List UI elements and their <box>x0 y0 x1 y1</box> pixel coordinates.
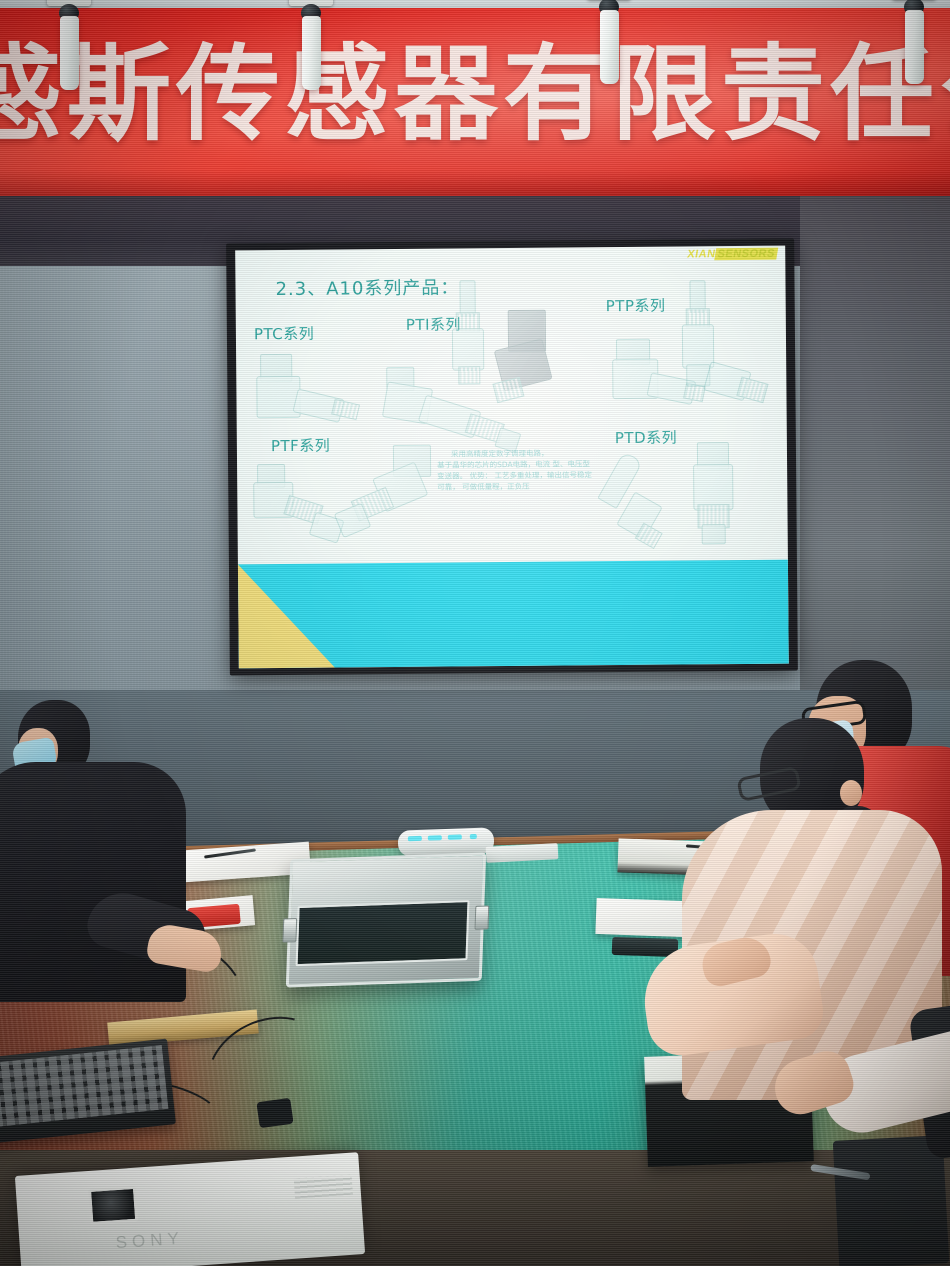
red-banner: 惑斯传感器有限责任公 <box>0 8 950 204</box>
aluminum-flight-case[interactable] <box>286 852 486 987</box>
banner-text: 惑斯传感器有限责任公 <box>0 34 950 154</box>
sensor-sketch-pti-c <box>488 310 565 419</box>
body-line-4: 优势： <box>470 471 493 480</box>
slide-surface: XIANSENSORS 2.3、A10系列产品： PTC系列 PTI系列 PTP… <box>235 246 789 669</box>
sensor-sketch-ptc <box>254 353 359 438</box>
slide-accent-band <box>238 560 789 669</box>
logo-text-sensors: SENSORS <box>715 248 778 261</box>
projector-lens-icon <box>88 1186 138 1225</box>
series-label-ptc: PTC系列 <box>254 323 314 345</box>
chair[interactable] <box>833 1135 950 1266</box>
sensor-sketch-ptp-c <box>706 358 773 421</box>
cable-clip <box>256 1098 293 1128</box>
sensor-sketch-ptd-b <box>685 442 744 547</box>
right-wall <box>800 196 950 696</box>
xian-sensors-logo: XIANSENSORS <box>687 248 779 261</box>
series-label-ptp: PTP系列 <box>606 295 666 317</box>
projection-screen[interactable]: XIANSENSORS 2.3、A10系列产品： PTC系列 PTI系列 PTP… <box>226 239 798 676</box>
projector-brand-label: SONY <box>115 1229 184 1254</box>
ear <box>840 780 862 806</box>
projector-vent <box>294 1175 353 1199</box>
conference-room-scene: 惑斯传感器有限责任公 XIANSENSORS 2.3、A10系列产品： PTC系… <box>0 0 950 1266</box>
torso <box>0 762 186 1002</box>
body-line-2: 基于晶华的芯片的SDA电路，电流 <box>437 460 550 470</box>
body-line-6: 可做低量程，正负压 <box>462 482 530 492</box>
sensor-sketch-ptf-b <box>337 445 444 546</box>
sensor-sketch-ptd-a <box>609 452 686 557</box>
slide-body-text: 采用高精度定数字调理电路， 基于晶华的芯片的SDA电路，电流 型、电压型变送器。… <box>437 447 597 492</box>
body-line-1: 采用高精度定数字调理电路， <box>437 447 597 459</box>
sensor-sketch-ptf-a <box>251 463 348 560</box>
slide-title: 2.3、A10系列产品： <box>275 273 459 301</box>
logo-text-xian: XIAN <box>687 248 717 260</box>
